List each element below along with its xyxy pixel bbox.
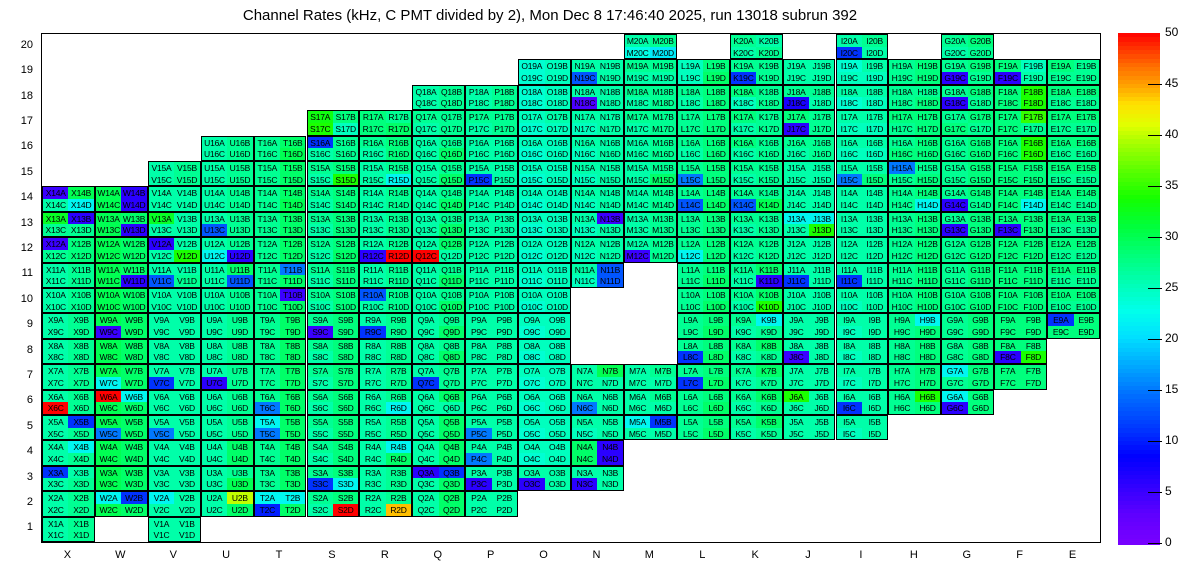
pmt-channel: K18A — [731, 86, 756, 98]
detector-module: P6AP6BP6CP6D — [465, 390, 518, 415]
pmt-channel: O4C — [519, 453, 544, 465]
pmt-channel: W3D — [121, 478, 146, 490]
pmt-channel: J8D — [809, 351, 834, 363]
pmt-channel: T8B — [280, 340, 305, 352]
detector-module: L19AL19BL19CL19D — [677, 59, 730, 84]
pmt-channel: S9C — [308, 326, 333, 338]
pmt-channel: F10B — [1021, 289, 1046, 301]
pmt-channel: U13B — [227, 213, 252, 225]
pmt-channel: L12A — [678, 238, 703, 250]
detector-module: Q13AQ13BQ13CQ13D — [412, 212, 465, 237]
pmt-channel: S17A — [308, 111, 333, 123]
pmt-channel: L14A — [678, 187, 703, 199]
pmt-channel: G7C — [942, 377, 967, 389]
pmt-channel: N15B — [597, 162, 622, 174]
pmt-channel: X3A — [43, 467, 68, 479]
pmt-channel: K14B — [756, 187, 781, 199]
pmt-channel: V1A — [149, 518, 174, 530]
pmt-channel: H6D — [915, 402, 940, 414]
pmt-channel: S5A — [308, 416, 333, 428]
pmt-channel: M13B — [650, 213, 675, 225]
pmt-channel: P10D — [492, 301, 517, 313]
detector-module: T10AT10BT10CT10D — [254, 288, 307, 313]
pmt-channel: L9A — [678, 314, 703, 326]
pmt-channel: S16B — [333, 137, 358, 149]
pmt-channel: H11B — [915, 264, 940, 276]
pmt-channel: U2A — [202, 492, 227, 504]
pmt-channel: S8A — [308, 340, 333, 352]
detector-module: F12AF12BF12CF12D — [994, 237, 1047, 262]
pmt-channel: K9D — [756, 326, 781, 338]
pmt-channel: H13B — [915, 213, 940, 225]
pmt-channel: W4D — [121, 453, 146, 465]
pmt-channel: K19B — [756, 60, 781, 72]
pmt-channel: V8A — [149, 340, 174, 352]
pmt-channel: X6D — [68, 402, 93, 414]
pmt-channel: X1D — [68, 529, 93, 541]
pmt-channel: I9C — [837, 326, 862, 338]
y-axis-tick-label: 15 — [7, 166, 33, 178]
detector-module: T5AT5BT5CT5D — [254, 415, 307, 440]
pmt-channel: H11D — [915, 275, 940, 287]
pmt-channel: R12B — [386, 238, 411, 250]
pmt-channel: M15D — [650, 174, 675, 186]
detector-module: O8AO8BO8CO8D — [518, 339, 571, 364]
pmt-channel: E12A — [1048, 238, 1073, 250]
detector-module: T9AT9BT9CT9D — [254, 313, 307, 338]
pmt-channel: V8C — [149, 351, 174, 363]
pmt-channel: Q6C — [413, 402, 438, 414]
pmt-channel: P14B — [492, 187, 517, 199]
detector-module: P17AP17BP17CP17D — [465, 110, 518, 135]
pmt-channel: L15C — [678, 174, 703, 186]
pmt-channel: L13B — [703, 213, 728, 225]
pmt-channel: P3B — [492, 467, 517, 479]
detector-module: K13AK13BK13CK13D — [730, 212, 783, 237]
detector-module: W5AW5BW5CW5D — [95, 415, 148, 440]
pmt-channel: Q2A — [413, 492, 438, 504]
pmt-channel: P10A — [466, 289, 491, 301]
pmt-channel: I15D — [862, 174, 887, 186]
pmt-channel: M16B — [650, 137, 675, 149]
pmt-channel: W2D — [121, 504, 146, 516]
pmt-channel: T9D — [280, 326, 305, 338]
pmt-channel: I16C — [837, 148, 862, 160]
pmt-channel: R6D — [386, 402, 411, 414]
pmt-channel: K5A — [731, 416, 756, 428]
pmt-channel: R4A — [360, 441, 385, 453]
pmt-channel: R7D — [386, 377, 411, 389]
pmt-channel: J13C — [784, 224, 809, 236]
pmt-channel: S7B — [333, 365, 358, 377]
pmt-channel: I10B — [862, 289, 887, 301]
pmt-channel: P18A — [466, 86, 491, 98]
pmt-channel: X6A — [43, 391, 68, 403]
pmt-channel: Q15B — [439, 162, 464, 174]
pmt-channel: S2B — [333, 492, 358, 504]
pmt-channel: X3C — [43, 478, 68, 490]
detector-module: U5AU5BU5CU5D — [201, 415, 254, 440]
pmt-channel: M12D — [650, 250, 675, 262]
pmt-channel: V10B — [174, 289, 199, 301]
pmt-channel: M17C — [625, 123, 650, 135]
detector-module: J6AJ6BJ6CJ6D — [783, 390, 836, 415]
pmt-channel: W10A — [96, 289, 121, 301]
pmt-channel: X7A — [43, 365, 68, 377]
detector-module: T11AT11BT11CT11D — [254, 263, 307, 288]
detector-module: S17AS17BS17CS17D — [307, 110, 360, 135]
detector-module: M6AM6BM6CM6D — [624, 390, 677, 415]
pmt-channel: K16C — [731, 148, 756, 160]
x-axis-tick-label: W — [100, 549, 140, 561]
detector-module: S16AS16BS16CS16D — [307, 136, 360, 161]
pmt-channel: G11D — [968, 275, 993, 287]
pmt-channel: X11D — [68, 275, 93, 287]
detector-module: K16AK16BK16CK16D — [730, 136, 783, 161]
pmt-channel: H6C — [889, 402, 914, 414]
pmt-channel: H10A — [889, 289, 914, 301]
detector-module: L17AL17BL17CL17D — [677, 110, 730, 135]
pmt-channel: O18D — [545, 97, 570, 109]
pmt-channel: J17C — [784, 123, 809, 135]
pmt-channel: E13A — [1048, 213, 1073, 225]
pmt-channel: H11A — [889, 264, 914, 276]
y-axis-tick-label: 18 — [7, 90, 33, 102]
pmt-channel: K16A — [731, 137, 756, 149]
pmt-channel: T7C — [255, 377, 280, 389]
pmt-channel: N17B — [597, 111, 622, 123]
detector-module: N13AN13BN13CN13D — [571, 212, 624, 237]
pmt-channel: U15D — [227, 174, 252, 186]
pmt-channel: G11A — [942, 264, 967, 276]
pmt-channel: J7B — [809, 365, 834, 377]
pmt-channel: S14B — [333, 187, 358, 199]
pmt-channel: H8C — [889, 351, 914, 363]
pmt-channel: K19A — [731, 60, 756, 72]
pmt-channel: E16C — [1048, 148, 1073, 160]
pmt-channel: H8D — [915, 351, 940, 363]
detector-module: U11AU11BU11CU11D — [201, 263, 254, 288]
pmt-channel: G17D — [968, 123, 993, 135]
detector-module: R16AR16BR16CR16D — [359, 136, 412, 161]
detector-module: Q5AQ5BQ5CQ5D — [412, 415, 465, 440]
pmt-channel: O6A — [519, 391, 544, 403]
pmt-channel: U2D — [227, 504, 252, 516]
pmt-channel: I14A — [837, 187, 862, 199]
pmt-channel: K12D — [756, 250, 781, 262]
pmt-channel: X13C — [43, 224, 68, 236]
pmt-channel: J15C — [784, 174, 809, 186]
pmt-channel: X13A — [43, 213, 68, 225]
pmt-channel: K20C — [731, 47, 756, 59]
pmt-channel: J6B — [809, 391, 834, 403]
detector-module: J12AJ12BJ12CJ12D — [783, 237, 836, 262]
pmt-channel: G7B — [968, 365, 993, 377]
pmt-channel: X10D — [68, 301, 93, 313]
pmt-channel: L13D — [703, 224, 728, 236]
pmt-channel: G15B — [968, 162, 993, 174]
colorbar-tick-label: 25 — [1165, 280, 1178, 294]
pmt-channel: I13D — [862, 224, 887, 236]
y-axis-tick-label: 14 — [7, 191, 33, 203]
pmt-channel: Q8C — [413, 351, 438, 363]
pmt-channel: H9B — [915, 314, 940, 326]
pmt-channel: I11C — [837, 275, 862, 287]
pmt-channel: R17A — [360, 111, 385, 123]
pmt-channel: M7A — [625, 365, 650, 377]
pmt-channel: F19B — [1021, 60, 1046, 72]
pmt-channel: P12A — [466, 238, 491, 250]
pmt-channel: S15D — [333, 174, 358, 186]
detector-module: U14AU14BU14CU14D — [201, 186, 254, 211]
detector-module: V4AV4BV4CV4D — [148, 440, 201, 465]
pmt-channel: F18C — [995, 97, 1020, 109]
pmt-channel: L16C — [678, 148, 703, 160]
pmt-channel: T4C — [255, 453, 280, 465]
detector-module: V3AV3BV3CV3D — [148, 466, 201, 491]
pmt-channel: L8A — [678, 340, 703, 352]
pmt-channel: F18B — [1021, 86, 1046, 98]
detector-module: P15AP15BP15CP15D — [465, 161, 518, 186]
pmt-channel: G15C — [942, 174, 967, 186]
pmt-channel: Q4C — [413, 453, 438, 465]
pmt-channel: U8C — [202, 351, 227, 363]
pmt-channel: P4A — [466, 441, 491, 453]
pmt-channel: W7D — [121, 377, 146, 389]
pmt-channel: T3A — [255, 467, 280, 479]
pmt-channel: O11C — [519, 275, 544, 287]
pmt-channel: S10C — [308, 301, 333, 313]
pmt-channel: F16C — [995, 148, 1020, 160]
pmt-channel: I8B — [862, 340, 887, 352]
detector-module: J13AJ13BJ13CJ13D — [783, 212, 836, 237]
y-axis-tick-label: 10 — [7, 293, 33, 305]
pmt-channel: S4C — [308, 453, 333, 465]
detector-module: K12AK12BK12CK12D — [730, 237, 783, 262]
pmt-channel: R13A — [360, 213, 385, 225]
detector-module: K11AK11BK11CK11D — [730, 263, 783, 288]
pmt-channel: L19D — [703, 72, 728, 84]
pmt-channel: E15D — [1074, 174, 1099, 186]
pmt-channel: H16B — [915, 137, 940, 149]
pmt-channel: L11D — [703, 275, 728, 287]
detector-module: E11AE11BE11CE11D — [1047, 263, 1100, 288]
pmt-channel: O17B — [545, 111, 570, 123]
pmt-channel: E13B — [1074, 213, 1099, 225]
detector-module: L5AL5BL5CL5D — [677, 415, 730, 440]
pmt-channel: J5C — [784, 428, 809, 440]
detector-module: S7AS7BS7CS7D — [307, 364, 360, 389]
pmt-channel: R7B — [386, 365, 411, 377]
pmt-channel: V5D — [174, 428, 199, 440]
detector-module: I10AI10BI10CI10D — [836, 288, 889, 313]
pmt-channel: R11C — [360, 275, 385, 287]
pmt-channel: F16B — [1021, 137, 1046, 149]
pmt-channel: P11C — [466, 275, 491, 287]
pmt-channel: L19B — [703, 60, 728, 72]
pmt-channel: S13B — [333, 213, 358, 225]
detector-module: O3AO3BO3CO3D — [518, 466, 571, 491]
detector-module: Q18AQ18BQ18CQ18D — [412, 85, 465, 110]
pmt-channel: O11D — [545, 275, 570, 287]
pmt-channel: Q7B — [439, 365, 464, 377]
pmt-channel: M5D — [650, 428, 675, 440]
pmt-channel: W8D — [121, 351, 146, 363]
pmt-channel: N18B — [597, 86, 622, 98]
pmt-channel: I8C — [837, 351, 862, 363]
pmt-channel: K8B — [756, 340, 781, 352]
pmt-channel: R11A — [360, 264, 385, 276]
detector-module: K20AK20BK20CK20D — [730, 34, 783, 59]
pmt-channel: R15B — [386, 162, 411, 174]
pmt-channel: G10B — [968, 289, 993, 301]
detector-module: U9AU9BU9CU9D — [201, 313, 254, 338]
pmt-channel: H12B — [915, 238, 940, 250]
pmt-channel: R16D — [386, 148, 411, 160]
pmt-channel: K14A — [731, 187, 756, 199]
pmt-channel: F14A — [995, 187, 1020, 199]
pmt-channel: Q15A — [413, 162, 438, 174]
detector-module: N17AN17BN17CN17D — [571, 110, 624, 135]
pmt-channel: O5D — [545, 428, 570, 440]
pmt-channel: W6A — [96, 391, 121, 403]
pmt-channel: V10A — [149, 289, 174, 301]
colorbar-tick — [1148, 390, 1162, 391]
pmt-channel: N3A — [572, 467, 597, 479]
pmt-channel: O10B — [545, 289, 570, 301]
pmt-channel: H14A — [889, 187, 914, 199]
y-axis-tick-label: 8 — [7, 344, 33, 356]
detector-module: T3AT3BT3CT3D — [254, 466, 307, 491]
detector-module: X7AX7BX7CX7D — [42, 364, 95, 389]
pmt-channel: L15B — [703, 162, 728, 174]
detector-module: M16AM16BM16CM16D — [624, 136, 677, 161]
pmt-channel: S12B — [333, 238, 358, 250]
detector-module: G17AG17BG17CG17D — [941, 110, 994, 135]
pmt-channel: K20D — [756, 47, 781, 59]
detector-module: F11AF11BF11CF11D — [994, 263, 1047, 288]
detector-module: R10AR10BR10CR10D — [359, 288, 412, 313]
colorbar-tick — [1148, 543, 1162, 544]
pmt-channel: U3A — [202, 467, 227, 479]
pmt-channel: L7C — [678, 377, 703, 389]
detector-module: S11AS11BS11CS11D — [307, 263, 360, 288]
pmt-channel: S8D — [333, 351, 358, 363]
pmt-channel: V11D — [174, 275, 199, 287]
pmt-channel: I15A — [837, 162, 862, 174]
pmt-channel: V7D — [174, 377, 199, 389]
pmt-channel: K5D — [756, 428, 781, 440]
pmt-channel: H10B — [915, 289, 940, 301]
pmt-channel: H9D — [915, 326, 940, 338]
pmt-channel: G13C — [942, 224, 967, 236]
pmt-channel: H9A — [889, 314, 914, 326]
pmt-channel: F18D — [1021, 97, 1046, 109]
pmt-channel: F11C — [995, 275, 1020, 287]
pmt-channel: X7C — [43, 377, 68, 389]
detector-module: L12AL12BL12CL12D — [677, 237, 730, 262]
pmt-channel: Q12C — [413, 250, 438, 262]
detector-module: Q6AQ6BQ6CQ6D — [412, 390, 465, 415]
pmt-channel: K11B — [756, 264, 781, 276]
pmt-channel: Q18C — [413, 97, 438, 109]
detector-module: H15AH15BH15CH15D — [888, 161, 941, 186]
pmt-channel: Q14B — [439, 187, 464, 199]
pmt-channel: L13A — [678, 213, 703, 225]
pmt-channel: U11C — [202, 275, 227, 287]
pmt-channel: N3C — [572, 478, 597, 490]
pmt-channel: O8D — [545, 351, 570, 363]
pmt-channel: V9D — [174, 326, 199, 338]
detector-module: L9AL9BL9CL9D — [677, 313, 730, 338]
pmt-channel: U15A — [202, 162, 227, 174]
colorbar-tick-label: 45 — [1165, 76, 1178, 90]
pmt-channel: H15A — [889, 162, 914, 174]
pmt-channel: N19A — [572, 60, 597, 72]
pmt-channel: P6C — [466, 402, 491, 414]
pmt-channel: E19C — [1048, 72, 1073, 84]
pmt-channel: L19A — [678, 60, 703, 72]
pmt-channel: V7A — [149, 365, 174, 377]
pmt-channel: X13D — [68, 224, 93, 236]
detector-module: T12AT12BT12CT12D — [254, 237, 307, 262]
pmt-channel: S3C — [308, 478, 333, 490]
detector-module: V5AV5BV5CV5D — [148, 415, 201, 440]
pmt-channel: Q11D — [439, 275, 464, 287]
y-axis-tick-label: 19 — [7, 64, 33, 76]
pmt-channel: G10D — [968, 301, 993, 313]
pmt-channel: H17A — [889, 111, 914, 123]
pmt-channel: Q4A — [413, 441, 438, 453]
pmt-channel: X6B — [68, 391, 93, 403]
pmt-channel: H15B — [915, 162, 940, 174]
pmt-channel: T3C — [255, 478, 280, 490]
pmt-channel: M7B — [650, 365, 675, 377]
pmt-channel: X2B — [68, 492, 93, 504]
detector-module: N11AN11BN11CN11D — [571, 263, 624, 288]
pmt-channel: F7C — [995, 377, 1020, 389]
pmt-channel: T6D — [280, 402, 305, 414]
pmt-channel: K8D — [756, 351, 781, 363]
pmt-channel: F8A — [995, 340, 1020, 352]
pmt-channel: G18B — [968, 86, 993, 98]
pmt-channel: S11D — [333, 275, 358, 287]
detector-module: P18AP18BP18CP18D — [465, 85, 518, 110]
pmt-channel: V3D — [174, 478, 199, 490]
pmt-channel: N6B — [597, 391, 622, 403]
pmt-channel: L8B — [703, 340, 728, 352]
pmt-channel: Q18D — [439, 97, 464, 109]
pmt-channel: F7D — [1021, 377, 1046, 389]
pmt-channel: R14A — [360, 187, 385, 199]
pmt-channel: S15C — [308, 174, 333, 186]
pmt-channel: R4C — [360, 453, 385, 465]
pmt-channel: W13D — [121, 224, 146, 236]
detector-module: V12AV12BV12CV12D — [148, 237, 201, 262]
pmt-channel: W3B — [121, 467, 146, 479]
pmt-channel: O16C — [519, 148, 544, 160]
pmt-channel: Q16B — [439, 137, 464, 149]
detector-module: N3AN3BN3CN3D — [571, 466, 624, 491]
pmt-channel: I17D — [862, 123, 887, 135]
pmt-channel: O8C — [519, 351, 544, 363]
pmt-channel: K19D — [756, 72, 781, 84]
detector-module: L16AL16BL16CL16D — [677, 136, 730, 161]
pmt-channel: E11D — [1074, 275, 1099, 287]
pmt-channel: Q16A — [413, 137, 438, 149]
detector-module: J18AJ18BJ18CJ18D — [783, 85, 836, 110]
pmt-channel: S9A — [308, 314, 333, 326]
